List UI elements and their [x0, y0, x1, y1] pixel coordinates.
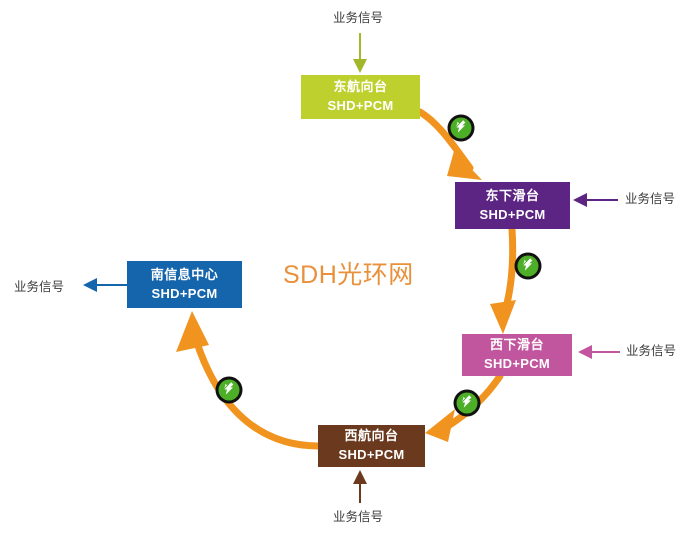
ring-title: SDH光环网 [283, 255, 414, 291]
signal-label-west-navigation: 业务信号 [333, 511, 383, 524]
signal-label-west-lower-slide: 业务信号 [626, 345, 676, 358]
node-title: 西航向台 [344, 428, 398, 445]
node-title: 南信息中心 [151, 267, 219, 284]
node-subtitle: SHD+PCM [151, 286, 217, 303]
optical-amplifier-icon[interactable] [513, 251, 543, 281]
node-east-navigation-station[interactable]: 东航向台 SHD+PCM [301, 75, 420, 119]
link-arrowhead-west-nav [425, 409, 455, 442]
node-subtitle: SHD+PCM [484, 356, 550, 373]
node-title: 东航向台 [333, 79, 387, 96]
link-arrowhead-south-center [176, 311, 209, 352]
node-west-navigation-station[interactable]: 西航向台 SHD+PCM [318, 425, 425, 467]
node-west-lower-slide-station[interactable]: 西下滑台 SHD+PCM [462, 334, 572, 376]
node-subtitle: SHD+PCM [327, 98, 393, 115]
optical-amplifier-icon[interactable] [214, 375, 244, 405]
node-subtitle: SHD+PCM [338, 447, 404, 464]
node-title: 东下滑台 [485, 188, 539, 205]
signal-label-east-navigation: 业务信号 [333, 12, 383, 25]
optical-amplifier-icon[interactable] [452, 388, 482, 418]
link-arrowhead-west-lower [490, 300, 516, 334]
node-east-lower-slide-station[interactable]: 东下滑台 SHD+PCM [455, 182, 570, 229]
node-subtitle: SHD+PCM [479, 207, 545, 224]
optical-amplifier-icon[interactable] [446, 113, 476, 143]
signal-label-east-lower-slide: 业务信号 [625, 193, 675, 206]
signal-label-south-information: 业务信号 [14, 281, 64, 294]
node-south-information-center[interactable]: 南信息中心 SHD+PCM [127, 261, 242, 308]
node-title: 西下滑台 [490, 337, 544, 354]
